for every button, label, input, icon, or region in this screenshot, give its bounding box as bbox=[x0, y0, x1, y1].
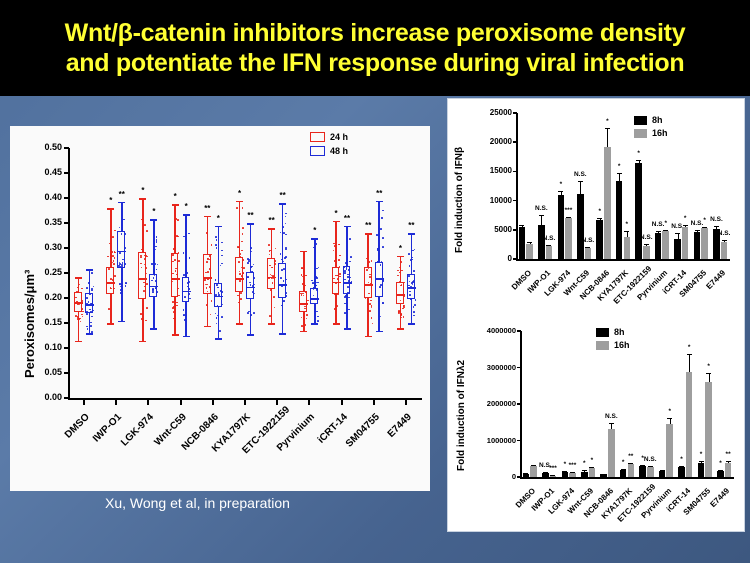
boxplot-data-point bbox=[381, 217, 383, 219]
boxplot-data-point bbox=[349, 238, 351, 240]
boxplot-y-tick-label: 0.30 bbox=[28, 242, 62, 252]
boxplot-y-tick-label: 0.35 bbox=[28, 217, 62, 227]
boxplot-significance-marker: ** bbox=[198, 204, 216, 213]
boxplot-data-point bbox=[401, 317, 403, 319]
boxplot-whisker-cap bbox=[107, 208, 114, 210]
boxplot-data-point bbox=[371, 260, 373, 262]
boxplot-whisker-cap bbox=[215, 226, 222, 228]
slide-title-band: Wnt/β-catenin inhibitors increase peroxi… bbox=[0, 0, 750, 96]
boxplot-data-point bbox=[410, 298, 412, 300]
boxplot-data-point bbox=[188, 301, 190, 303]
boxplot-data-point bbox=[382, 210, 384, 212]
ifn-lambda2-bar-error-cap bbox=[706, 373, 711, 374]
ifn-beta-bar-significance-marker: N.S. bbox=[568, 171, 592, 178]
boxplot-data-point bbox=[142, 309, 144, 311]
boxplot-whisker-cap bbox=[365, 336, 372, 338]
boxplot-data-point bbox=[304, 267, 306, 269]
ifn-beta-bar-legend-swatch bbox=[634, 129, 647, 138]
ifn-beta-bar-bar bbox=[721, 242, 728, 259]
ifn-beta-bar-significance-marker: * bbox=[693, 217, 717, 224]
ifn-beta-bar-y-tick bbox=[513, 258, 517, 260]
boxplot-data-point bbox=[188, 281, 190, 283]
ifn-lambda2-bar-y-tick bbox=[517, 330, 521, 332]
boxplot-whisker-cap bbox=[376, 331, 383, 333]
ifn-beta-bar-error-bar bbox=[580, 181, 581, 194]
boxplot-data-point bbox=[146, 307, 148, 309]
boxplot-data-point bbox=[221, 255, 223, 257]
boxplot-y-tick bbox=[64, 272, 69, 274]
boxplot-data-point bbox=[333, 250, 335, 252]
boxplot-data-point bbox=[208, 259, 210, 261]
boxplot-y-tick bbox=[64, 372, 69, 374]
ifn-beta-bar-error-cap bbox=[539, 215, 544, 216]
boxplot-data-point bbox=[253, 312, 255, 314]
boxplot-significance-marker: ** bbox=[242, 211, 260, 220]
ifn-lambda2-bar-error-cap bbox=[570, 472, 575, 473]
ifn-beta-bar-y-tick bbox=[513, 141, 517, 143]
boxplot-data-point bbox=[146, 283, 148, 285]
boxplot-data-point bbox=[152, 289, 154, 291]
boxplot-data-point bbox=[285, 234, 287, 236]
boxplot-significance-marker: * bbox=[177, 202, 195, 211]
boxplot-data-point bbox=[143, 290, 145, 292]
ifn-lambda2-bar-error-bar bbox=[689, 354, 690, 372]
ifn-beta-bar-bar bbox=[558, 195, 565, 259]
ifn-beta-bar-y-tick-label: 20000 bbox=[468, 137, 512, 146]
boxplot-data-point bbox=[367, 322, 369, 324]
ifn-beta-bar-legend-label: 8h bbox=[652, 115, 663, 125]
ifn-beta-bar-significance-marker: N.S. bbox=[576, 237, 600, 244]
boxplot-data-point bbox=[369, 267, 371, 269]
boxplot-data-point bbox=[400, 261, 402, 263]
boxplot-data-point bbox=[211, 244, 213, 246]
boxplot-data-point bbox=[410, 286, 412, 288]
ifn-lambda2-bar-legend-label: 16h bbox=[614, 340, 630, 350]
ifn-lambda2-bar-error-cap bbox=[589, 467, 594, 468]
boxplot-data-point bbox=[91, 331, 93, 333]
ifn-beta-bar-bar bbox=[694, 232, 701, 259]
boxplot-data-point bbox=[238, 261, 240, 263]
boxplot-data-point bbox=[348, 309, 350, 311]
ifn-beta-bar-y-tick-label: 25000 bbox=[468, 108, 512, 117]
title-line-1: Wnt/β-catenin inhibitors increase peroxi… bbox=[65, 18, 686, 48]
boxplot-data-point bbox=[367, 284, 369, 286]
boxplot-data-point bbox=[185, 257, 187, 259]
boxplot-data-point bbox=[89, 293, 91, 295]
boxplot-data-point bbox=[183, 236, 185, 238]
boxplot-data-point bbox=[77, 318, 79, 320]
ifn-lambda2-bar-y-tick bbox=[517, 367, 521, 369]
boxplot-data-point bbox=[204, 279, 206, 281]
boxplot-y-tick bbox=[64, 247, 69, 249]
boxplot-data-point bbox=[334, 260, 336, 262]
boxplot-whisker-cap bbox=[247, 223, 254, 225]
boxplot-data-point bbox=[155, 287, 157, 289]
boxplot-data-point bbox=[215, 313, 217, 315]
ifn-lambda2-bar-bar bbox=[608, 429, 615, 477]
boxplot-data-point bbox=[108, 308, 110, 310]
boxplot-data-point bbox=[344, 279, 346, 281]
ifn-lambda2-bar-bar bbox=[589, 468, 596, 477]
ifn-beta-bar-bar bbox=[635, 163, 642, 259]
boxplot-data-point bbox=[81, 288, 83, 290]
boxplot-data-point bbox=[81, 301, 83, 303]
boxplot-whisker-cap bbox=[118, 202, 125, 204]
boxplot-significance-marker: ** bbox=[274, 191, 292, 200]
boxplot-data-point bbox=[401, 314, 403, 316]
boxplot-x-tick bbox=[83, 400, 85, 405]
boxplot-data-point bbox=[269, 315, 271, 317]
boxplot-data-point bbox=[413, 270, 415, 272]
boxplot-data-point bbox=[112, 236, 114, 238]
boxplot-data-point bbox=[152, 291, 154, 293]
boxplot-data-point bbox=[124, 247, 126, 249]
boxplot-data-point bbox=[367, 315, 369, 317]
boxplot-median bbox=[182, 291, 191, 293]
boxplot-data-point bbox=[124, 263, 126, 265]
boxplot-data-point bbox=[156, 241, 158, 243]
boxplot-data-point bbox=[90, 325, 92, 327]
boxplot-data-point bbox=[141, 318, 143, 320]
boxplot-whisker-cap bbox=[236, 201, 243, 203]
boxplot-data-point bbox=[112, 279, 114, 281]
boxplot-data-point bbox=[370, 300, 372, 302]
boxplot-data-point bbox=[114, 275, 116, 277]
boxplot-data-point bbox=[313, 247, 315, 249]
ifn-lambda2-bar-error-cap bbox=[679, 466, 684, 467]
boxplot-legend-swatch bbox=[310, 146, 325, 156]
boxplot-data-point bbox=[380, 228, 382, 230]
boxplot-data-point bbox=[371, 307, 373, 309]
boxplot-data-point bbox=[366, 269, 368, 271]
ifn-beta-bar-significance-marker: * bbox=[607, 163, 631, 170]
boxplot-whisker-cap bbox=[183, 214, 190, 216]
boxplot-data-point bbox=[144, 286, 146, 288]
boxplot-data-point bbox=[305, 275, 307, 277]
boxplot-whisker-cap bbox=[311, 238, 318, 240]
ifn-lambda2-bar-significance-marker: * bbox=[580, 457, 604, 464]
boxplot-data-point bbox=[81, 314, 83, 316]
boxplot-data-point bbox=[140, 255, 142, 257]
boxplot-legend-item: 24 h bbox=[310, 132, 348, 142]
ifn-lambda2-bar-y-tick bbox=[517, 403, 521, 405]
ifn-lambda2-bar-legend-label: 8h bbox=[614, 327, 625, 337]
boxplot-data-point bbox=[140, 256, 142, 258]
boxplot-whisker-cap bbox=[300, 331, 307, 333]
ifn-lambda2-bar-bar bbox=[562, 472, 569, 477]
boxplot-significance-marker: * bbox=[391, 244, 409, 253]
boxplot-legend-swatch bbox=[310, 132, 325, 142]
boxplot-data-point bbox=[92, 297, 94, 299]
boxplot-data-point bbox=[285, 223, 287, 225]
boxplot-x-tick bbox=[212, 400, 214, 405]
boxplot-data-point bbox=[240, 292, 242, 294]
boxplot-data-point bbox=[113, 288, 115, 290]
boxplot-data-point bbox=[176, 305, 178, 307]
ifn-lambda2-bar-bar bbox=[581, 472, 588, 477]
boxplot-whisker-cap bbox=[247, 334, 254, 336]
boxplot-data-point bbox=[365, 298, 367, 300]
boxplot-median bbox=[138, 278, 147, 280]
ifn-lambda2-bar-error-cap bbox=[667, 418, 672, 419]
ifn-beta-bar-error-cap bbox=[605, 128, 610, 129]
boxplot-data-point bbox=[241, 241, 243, 243]
boxplot-data-point bbox=[250, 247, 252, 249]
boxplot-data-point bbox=[154, 263, 156, 265]
boxplot-data-point bbox=[286, 295, 288, 297]
ifn-lambda2-bar-error-cap bbox=[726, 461, 731, 462]
boxplot-data-point bbox=[344, 296, 346, 298]
boxplot-data-point bbox=[215, 236, 217, 238]
boxplot-significance-marker: * bbox=[145, 207, 163, 216]
boxplot-data-point bbox=[280, 277, 282, 279]
ifn-beta-bar-significance-marker: N.S. bbox=[529, 205, 553, 212]
boxplot-whisker-cap bbox=[408, 323, 415, 325]
boxplot-data-point bbox=[401, 270, 403, 272]
boxplot-data-point bbox=[185, 265, 187, 267]
boxplot-data-point bbox=[111, 251, 113, 253]
boxplot-y-tick bbox=[64, 397, 69, 399]
ifn-lambda2-bar-bar bbox=[717, 471, 724, 477]
boxplot-data-point bbox=[306, 303, 308, 305]
boxplot-data-point bbox=[222, 291, 224, 293]
ifn-beta-bar-bar bbox=[624, 237, 631, 259]
boxplot-data-point bbox=[368, 246, 370, 248]
boxplot-data-point bbox=[411, 282, 413, 284]
boxplot-y-tick bbox=[64, 172, 69, 174]
ifn-lambda2-bar-error-cap bbox=[718, 470, 723, 471]
ifn-beta-bar-y-axis bbox=[516, 113, 518, 259]
boxplot-data-point bbox=[108, 268, 110, 270]
boxplot-significance-marker: ** bbox=[370, 189, 388, 198]
boxplot-data-point bbox=[155, 246, 157, 248]
boxplot-data-point bbox=[408, 253, 410, 255]
boxplot-y-tick bbox=[64, 322, 69, 324]
ifn-lambda2-bar-bar bbox=[530, 466, 537, 477]
boxplot-data-point bbox=[173, 318, 175, 320]
boxplot-data-point bbox=[218, 294, 220, 296]
boxplot-x-tick bbox=[373, 400, 375, 405]
ifn-beta-bar-bar bbox=[701, 228, 708, 259]
ifn-lambda2-bar-bar bbox=[647, 467, 654, 477]
boxplot-data-point bbox=[220, 265, 222, 267]
ifn-beta-bar-y-tick-label: 10000 bbox=[468, 196, 512, 205]
boxplot-whisker-cap bbox=[344, 226, 351, 228]
ifn-lambda2-bar-error-cap bbox=[699, 461, 704, 462]
boxplot-data-point bbox=[145, 320, 147, 322]
boxplot-data-point bbox=[301, 325, 303, 327]
boxplot-data-point bbox=[250, 284, 252, 286]
boxplot-data-point bbox=[178, 252, 180, 254]
boxplot-data-point bbox=[337, 293, 339, 295]
boxplot-data-point bbox=[86, 287, 88, 289]
boxplot-data-point bbox=[371, 305, 373, 307]
boxplot-median bbox=[149, 286, 158, 288]
boxplot-data-point bbox=[215, 279, 217, 281]
boxplot-data-point bbox=[280, 232, 282, 234]
boxplot-data-point bbox=[174, 296, 176, 298]
boxplot-data-point bbox=[236, 207, 238, 209]
boxplot-data-point bbox=[378, 327, 380, 329]
boxplot-data-point bbox=[382, 302, 384, 304]
ifn-beta-bar-error-cap bbox=[578, 181, 583, 182]
boxplot-y-tick-label: 0.45 bbox=[28, 167, 62, 177]
boxplot-data-point bbox=[312, 282, 314, 284]
boxplot-data-point bbox=[368, 256, 370, 258]
boxplot-data-point bbox=[268, 277, 270, 279]
boxplot-whisker-cap bbox=[279, 333, 286, 335]
ifn-lambda2-bar-y-tick-label: 0 bbox=[472, 472, 516, 481]
boxplot-data-point bbox=[403, 285, 405, 287]
boxplot-data-point bbox=[86, 313, 88, 315]
boxplot-whisker-cap bbox=[397, 256, 404, 258]
boxplot-data-point bbox=[311, 280, 313, 282]
boxplot-data-point bbox=[304, 324, 306, 326]
boxplot-data-point bbox=[379, 286, 381, 288]
boxplot-x-tick bbox=[115, 400, 117, 405]
boxplot-data-point bbox=[87, 328, 89, 330]
boxplot-data-point bbox=[317, 316, 319, 318]
ifn-lambda2-bar-bar bbox=[725, 463, 732, 477]
ifn-beta-bar-error-cap bbox=[702, 227, 707, 228]
boxplot-legend-label: 48 h bbox=[330, 146, 348, 156]
boxplot-data-point bbox=[209, 268, 211, 270]
boxplot-whisker bbox=[218, 226, 220, 339]
boxplot-data-point bbox=[189, 257, 191, 259]
boxplot-data-point bbox=[207, 271, 209, 273]
ifn-lambda2-bar-bar bbox=[542, 473, 549, 477]
boxplot-y-tick bbox=[64, 197, 69, 199]
ifn-lambda2-bar-significance-marker: ** bbox=[716, 451, 740, 458]
boxplot-data-point bbox=[413, 315, 415, 317]
boxplot-data-point bbox=[403, 296, 405, 298]
boxplot-data-point bbox=[79, 318, 81, 320]
boxplot-data-point bbox=[284, 257, 286, 259]
boxplot-median bbox=[310, 298, 319, 300]
boxplot-data-point bbox=[144, 224, 146, 226]
boxplot-whisker-cap bbox=[172, 334, 179, 336]
boxplot-data-point bbox=[241, 250, 243, 252]
boxplot-data-point bbox=[306, 314, 308, 316]
boxplot-data-point bbox=[110, 278, 112, 280]
ifn-beta-bar-bar bbox=[674, 239, 681, 259]
boxplot-data-point bbox=[399, 281, 401, 283]
ifn-beta-bar-bar bbox=[546, 246, 553, 259]
boxplot-data-point bbox=[91, 272, 93, 274]
ifn-beta-bar-significance-marker: * bbox=[615, 221, 639, 228]
boxplot-data-point bbox=[122, 280, 124, 282]
boxplot-data-point bbox=[91, 288, 93, 290]
boxplot-data-point bbox=[176, 235, 178, 237]
boxplot-data-point bbox=[398, 310, 400, 312]
boxplot-data-point bbox=[156, 236, 158, 238]
ifn-beta-bar-error-cap bbox=[624, 231, 629, 232]
boxplot-whisker-cap bbox=[139, 341, 146, 343]
ifn-lambda2-bar-y-tick-label: 3000000 bbox=[472, 363, 516, 372]
boxplot-data-point bbox=[172, 254, 174, 256]
boxplot-data-point bbox=[281, 305, 283, 307]
boxplot-significance-marker: ** bbox=[263, 216, 281, 225]
boxplot-data-point bbox=[270, 289, 272, 291]
boxplot-data-point bbox=[371, 317, 373, 319]
boxplot-data-point bbox=[178, 260, 180, 262]
boxplot-data-point bbox=[206, 304, 208, 306]
boxplot-data-point bbox=[378, 227, 380, 229]
boxplot-data-point bbox=[415, 299, 417, 301]
boxplot-data-point bbox=[316, 277, 318, 279]
ifn-beta-bar-bar bbox=[519, 227, 526, 259]
ifn-beta-bar-error-cap bbox=[714, 226, 719, 227]
boxplot-data-point bbox=[157, 264, 159, 266]
ifn-lambda2-bar-error-cap bbox=[601, 474, 606, 475]
boxplot-whisker-cap bbox=[236, 323, 243, 325]
ifn-beta-bar-bar bbox=[538, 225, 545, 259]
boxplot-whisker-cap bbox=[204, 326, 211, 328]
boxplot-data-point bbox=[221, 250, 223, 252]
boxplot-whisker-cap bbox=[311, 323, 318, 325]
boxplot-data-point bbox=[344, 312, 346, 314]
boxplot-data-point bbox=[173, 248, 175, 250]
ifn-lambda2-bar-bar bbox=[523, 474, 530, 477]
boxplot-whisker-cap bbox=[344, 328, 351, 330]
boxplot-data-point bbox=[301, 317, 303, 319]
ifn-lambda2-bar-bar bbox=[628, 464, 635, 477]
boxplot-data-point bbox=[254, 284, 256, 286]
ifn-beta-bar-bar bbox=[616, 181, 623, 259]
boxplot-whisker-cap bbox=[408, 233, 415, 235]
ifn-beta-bar-error-cap bbox=[558, 191, 563, 192]
boxplot-data-point bbox=[382, 237, 384, 239]
boxplot-data-point bbox=[156, 291, 158, 293]
ifn-beta-bar-y-tick bbox=[513, 229, 517, 231]
ifn-beta-bar-bar bbox=[643, 246, 650, 259]
boxplot-data-point bbox=[377, 248, 379, 250]
boxplot-data-point bbox=[81, 308, 83, 310]
boxplot-data-point bbox=[184, 319, 186, 321]
boxplot-data-point bbox=[125, 283, 127, 285]
boxplot-y-tick-label: 0.50 bbox=[28, 142, 62, 152]
boxplot-whisker-cap bbox=[300, 251, 307, 253]
boxplot-data-point bbox=[403, 306, 405, 308]
boxplot-data-point bbox=[153, 277, 155, 279]
ifn-lambda2-bar-bar bbox=[686, 372, 693, 477]
boxplot-whisker-cap bbox=[75, 277, 82, 279]
boxplot-data-point bbox=[382, 284, 384, 286]
boxplot-data-point bbox=[336, 252, 338, 254]
ifn-beta-bar-error-bar bbox=[541, 215, 542, 225]
boxplot-data-point bbox=[317, 320, 319, 322]
ifn-beta-bar-error-cap bbox=[566, 217, 571, 218]
ifn-lambda2-bar-legend-swatch bbox=[596, 341, 609, 350]
ifn-lambda2-bar-error-cap bbox=[609, 423, 614, 424]
ifn-beta-bar-bar bbox=[604, 147, 611, 259]
boxplot-significance-marker: * bbox=[231, 189, 249, 198]
boxplot-data-point bbox=[82, 311, 84, 313]
boxplot-whisker-cap bbox=[107, 323, 114, 325]
ifn-beta-bar-bar bbox=[577, 194, 584, 259]
boxplot-whisker-cap bbox=[139, 198, 146, 200]
ifn-beta-bar-y-tick bbox=[513, 171, 517, 173]
boxplot-significance-marker: * bbox=[166, 192, 184, 201]
boxplot-data-point bbox=[80, 321, 82, 323]
ifn-lambda2-bar-y-tick-label: 1000000 bbox=[472, 436, 516, 445]
boxplot-data-point bbox=[345, 262, 347, 264]
boxplot-data-point bbox=[206, 261, 208, 263]
boxplot-data-point bbox=[210, 314, 212, 316]
boxplot-data-point bbox=[247, 262, 249, 264]
boxplot-data-point bbox=[410, 259, 412, 261]
boxplot-whisker-cap bbox=[150, 328, 157, 330]
